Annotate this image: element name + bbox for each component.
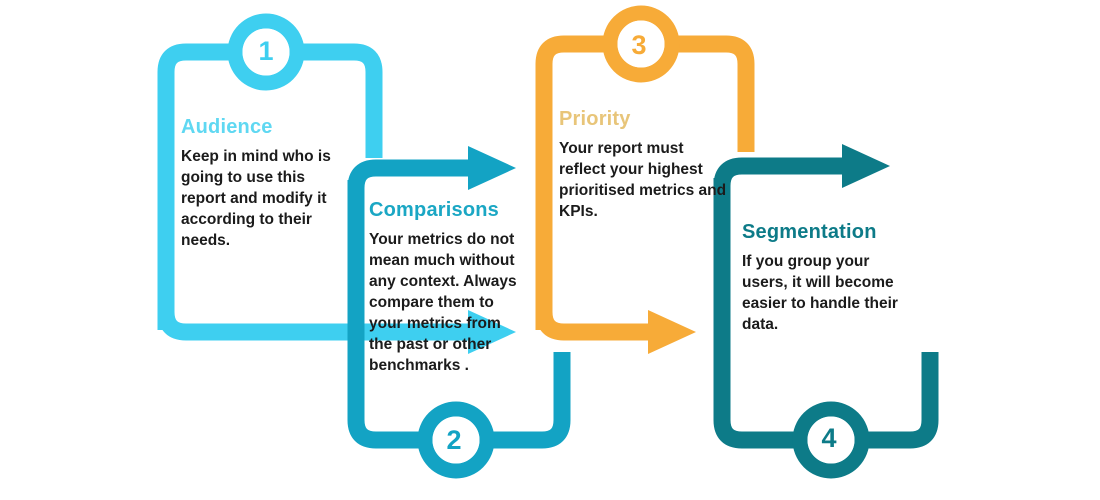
flow-connectors <box>0 0 1100 500</box>
step-1-title: Audience <box>181 116 331 139</box>
step-1-text-block: Audience Keep in mind who is going to us… <box>181 116 331 252</box>
step-2-title: Comparisons <box>369 199 517 222</box>
step-2-text-block: Comparisons Your metrics do not mean muc… <box>369 199 517 376</box>
step-4-title: Segmentation <box>742 221 902 244</box>
step-1-number: 1 <box>236 36 296 67</box>
step-4-body: If you group your users, it will become … <box>742 252 902 336</box>
step-1-body: Keep in mind who is going to use this re… <box>181 147 331 252</box>
step-3-text-block: Priority Your report must reflect your h… <box>559 108 729 223</box>
step-3-title: Priority <box>559 108 729 131</box>
step-2-body: Your metrics do not mean much without an… <box>369 230 517 376</box>
step-4-number: 4 <box>799 423 859 454</box>
process-flow-infographic: Audience Keep in mind who is going to us… <box>0 0 1100 500</box>
step-3-body: Your report must reflect your highest pr… <box>559 139 729 223</box>
step-2-number: 2 <box>424 425 484 456</box>
step-3-number: 3 <box>609 30 669 61</box>
step-4-text-block: Segmentation If you group your users, it… <box>742 221 902 336</box>
